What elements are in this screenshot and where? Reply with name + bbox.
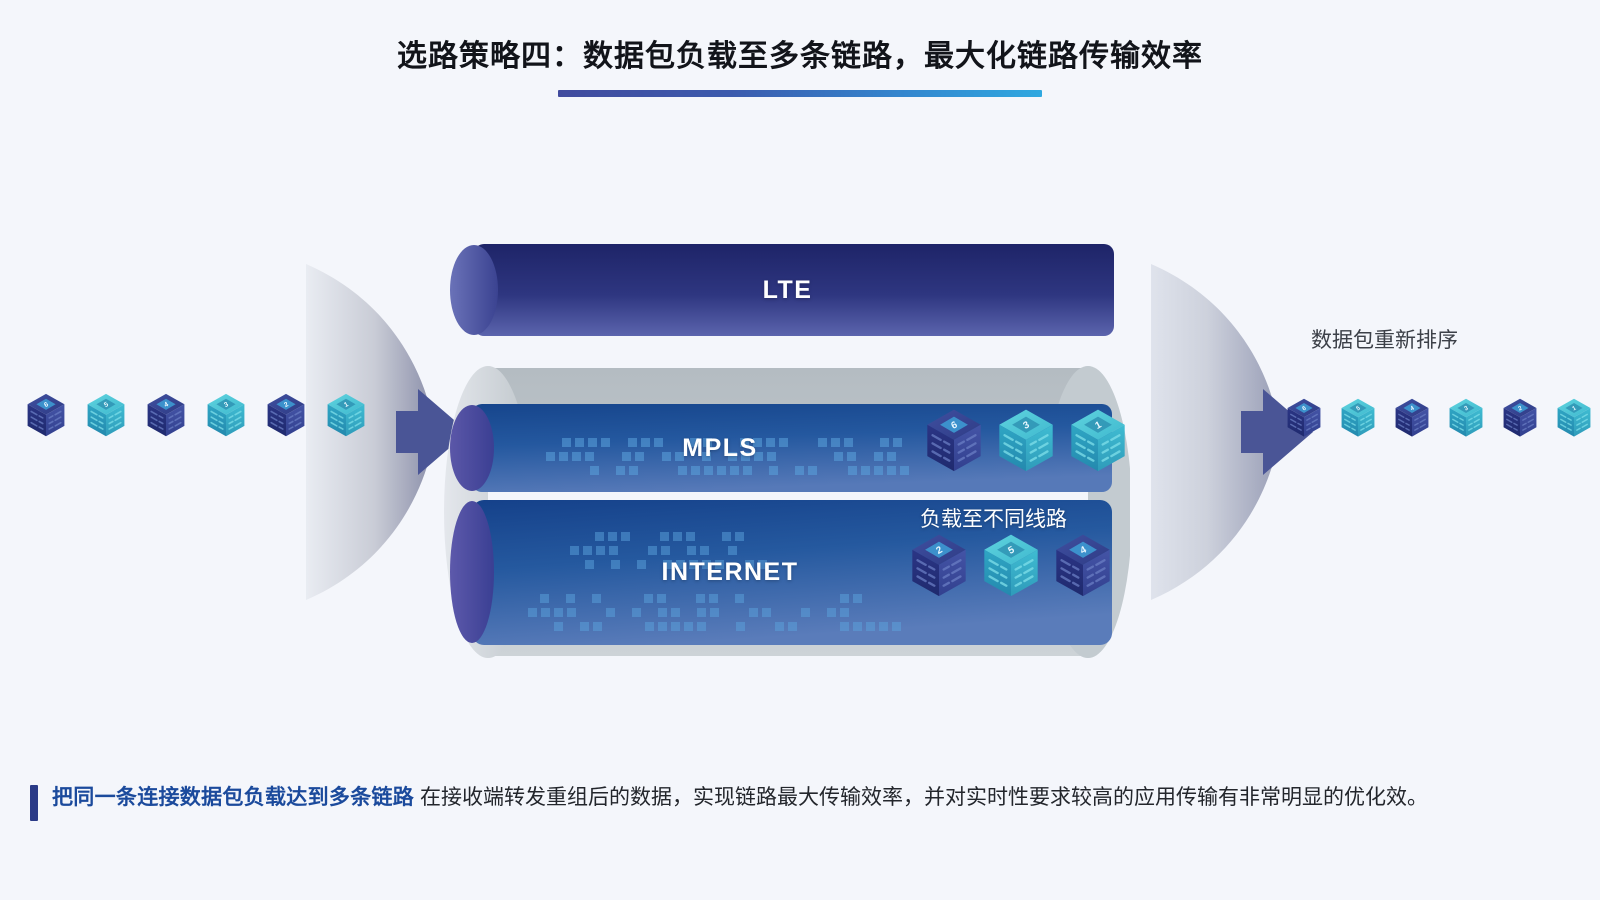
packet-cube-icon: 2 xyxy=(266,393,306,438)
packet-cube-icon: 3 xyxy=(206,393,246,438)
packet-cube-icon: 2 xyxy=(1502,398,1538,438)
packet-reorder-note: 数据包重新排序 xyxy=(1311,324,1458,354)
packet-cube-6: 6 xyxy=(26,393,66,438)
packet-cube-1: 1 xyxy=(1556,398,1592,438)
packet-cube-icon: 6 xyxy=(925,408,983,474)
footer-caption: 把同一条连接数据包负载达到多条链路 在接收端转发重组后的数据，实现链路最大传输效… xyxy=(30,782,1570,821)
packet-cube-3: 3 xyxy=(1448,398,1484,438)
packet-cube-6: 6 xyxy=(1286,398,1322,438)
packet-cube-2: 2 xyxy=(910,533,968,599)
packet-cube-4: 4 xyxy=(1054,533,1112,599)
packet-cube-3: 3 xyxy=(206,393,246,438)
link-tube-lte[interactable]: LTE xyxy=(450,244,1125,336)
packet-cube-icon: 1 xyxy=(1556,398,1592,438)
footer-lead-text: 把同一条连接数据包负载达到多条链路 xyxy=(52,786,414,809)
packet-cube-1: 1 xyxy=(1069,408,1127,474)
packet-cube-icon: 3 xyxy=(997,408,1055,474)
packet-cube-6: 6 xyxy=(925,408,983,474)
footer-body-text: 在接收端转发重组后的数据，实现链路最大传输效率，并对实时性要求较高的应用传输有非… xyxy=(414,786,1428,809)
inbound-packet-stream: 6 5 xyxy=(26,393,366,438)
packet-cube-4: 4 xyxy=(146,393,186,438)
mpls-packet-group: 6 3 xyxy=(925,408,1127,474)
packet-cube-icon: 4 xyxy=(1054,533,1112,599)
packet-cube-2: 2 xyxy=(266,393,306,438)
outbound-packet-stream: 6 5 xyxy=(1286,398,1592,438)
packet-cube-5: 5 xyxy=(86,393,126,438)
packet-cube-icon: 4 xyxy=(1394,398,1430,438)
packet-cube-4: 4 xyxy=(1394,398,1430,438)
footer-text: 把同一条连接数据包负载达到多条链路 在接收端转发重组后的数据，实现链路最大传输效… xyxy=(52,782,1428,821)
packet-cube-3: 3 xyxy=(997,408,1055,474)
packet-cube-icon: 6 xyxy=(26,393,66,438)
packet-cube-1: 1 xyxy=(326,393,366,438)
packet-cube-icon: 5 xyxy=(1340,398,1376,438)
packet-cube-icon: 6 xyxy=(1286,398,1322,438)
packet-cube-icon: 2 xyxy=(910,533,968,599)
tube-label-lte: LTE xyxy=(450,244,1125,336)
diagram-stage: LTE xyxy=(0,0,1600,900)
packet-cube-5: 5 xyxy=(1340,398,1376,438)
load-balance-note: 负载至不同线路 xyxy=(920,503,1067,533)
packet-cube-icon: 1 xyxy=(1069,408,1127,474)
packet-cube-2: 2 xyxy=(1502,398,1538,438)
packet-cube-5: 5 xyxy=(982,533,1040,599)
internet-packet-group: 2 5 xyxy=(910,533,1112,599)
packet-cube-icon: 1 xyxy=(326,393,366,438)
packet-cube-icon: 4 xyxy=(146,393,186,438)
packet-cube-icon: 5 xyxy=(982,533,1040,599)
packet-cube-icon: 3 xyxy=(1448,398,1484,438)
footer-accent-bar xyxy=(30,785,38,821)
packet-cube-icon: 5 xyxy=(86,393,126,438)
